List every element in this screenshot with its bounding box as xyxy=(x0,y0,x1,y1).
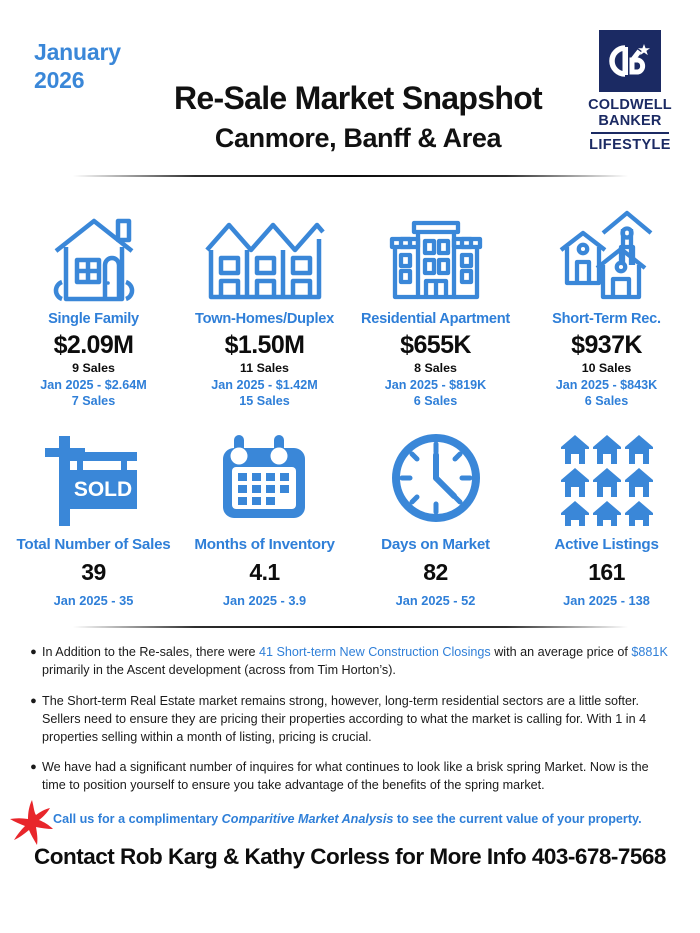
property-sales: 8 Sales xyxy=(350,361,521,375)
note-plain: In Addition to the Re-sales, there were xyxy=(42,645,259,659)
report-month: January xyxy=(34,38,121,66)
stat-card-months-inventory: Months of Inventory 4.1 Jan 2025 - 3.9 xyxy=(179,422,350,608)
calendar-icon xyxy=(179,422,350,526)
note-text: We have had a significant number of inqu… xyxy=(42,759,675,795)
house-grid-icon xyxy=(521,422,692,526)
stat-prior: Jan 2025 - 35 xyxy=(8,593,179,608)
cta-italic: Comparitive Market Analysis xyxy=(222,812,394,826)
stat-card-active-listings: Active Listings 161 Jan 2025 - 138 xyxy=(521,422,692,608)
cta-row: Call us for a complimentary Comparitive … xyxy=(25,808,675,838)
property-card-townhomes: Town-Homes/Duplex $1.50M 11 Sales Jan 20… xyxy=(179,195,350,408)
stat-prior: Jan 2025 - 138 xyxy=(521,593,692,608)
stat-value: 39 xyxy=(8,559,179,586)
page-header: January 2026 Re-Sale Market Snapshot Can… xyxy=(0,0,700,175)
contact-footer: Contact Rob Karg & Kathy Corless for Mor… xyxy=(0,844,700,870)
property-sales: 11 Sales xyxy=(179,361,350,375)
stat-label: Months of Inventory xyxy=(179,536,350,553)
property-price: $1.50M xyxy=(179,331,350,360)
stat-prior: Jan 2025 - 52 xyxy=(350,593,521,608)
logo-name-line1: COLDWELL xyxy=(578,98,682,114)
bullet-icon: ● xyxy=(25,644,42,680)
property-prior-sales: 15 Sales xyxy=(179,394,350,408)
property-card-short-term-rec: Short-Term Rec. $937K 10 Sales Jan 2025 … xyxy=(521,195,692,408)
property-prior-sales: 6 Sales xyxy=(521,394,692,408)
stat-value: 161 xyxy=(521,559,692,586)
note-item: ● In Addition to the Re-sales, there wer… xyxy=(25,644,675,680)
property-label: Town-Homes/Duplex xyxy=(179,311,350,327)
property-type-grid: Single Family $2.09M 9 Sales Jan 2025 - … xyxy=(0,195,700,408)
stat-card-total-sales: SOLD Total Number of Sales 39 Jan 2025 -… xyxy=(8,422,179,608)
property-label: Single Family xyxy=(8,311,179,327)
property-prior-sales: 6 Sales xyxy=(350,394,521,408)
market-snapshot-page: January 2026 Re-Sale Market Snapshot Can… xyxy=(0,0,700,933)
logo-divider xyxy=(591,132,669,134)
stat-label: Active Listings xyxy=(521,536,692,553)
note-text: In Addition to the Re-sales, there were … xyxy=(42,644,675,680)
cb-monogram-icon xyxy=(599,30,661,92)
single-family-house-icon xyxy=(8,195,179,303)
stat-value: 82 xyxy=(350,559,521,586)
cta-after: to see the current value of your propert… xyxy=(393,812,641,826)
sold-sign-icon: SOLD xyxy=(8,422,179,526)
cta-before: Call us for a complimentary xyxy=(53,812,222,826)
bullet-icon: ● xyxy=(25,759,42,795)
clock-icon xyxy=(350,422,521,526)
stat-label: Days on Market xyxy=(350,536,521,553)
property-card-single-family: Single Family $2.09M 9 Sales Jan 2025 - … xyxy=(8,195,179,408)
logo-name: COLDWELL BANKER xyxy=(578,98,682,129)
property-label: Residential Apartment xyxy=(350,311,521,327)
stat-label: Total Number of Sales xyxy=(8,536,179,553)
apartment-building-icon xyxy=(350,195,521,303)
divider-bottom xyxy=(73,626,628,628)
property-prior-price: Jan 2025 - $1.42M xyxy=(179,378,350,392)
divider-top xyxy=(73,175,628,177)
note-highlight: $881K xyxy=(631,645,667,659)
property-card-apartment: Residential Apartment $655K 8 Sales Jan … xyxy=(350,195,521,408)
sold-label: SOLD xyxy=(73,478,131,501)
market-notes: ● In Addition to the Re-sales, there wer… xyxy=(25,644,675,795)
stat-prior: Jan 2025 - 3.9 xyxy=(179,593,350,608)
property-sales: 10 Sales xyxy=(521,361,692,375)
property-prior-price: Jan 2025 - $819K xyxy=(350,378,521,392)
logo-sublabel: LIFESTYLE xyxy=(578,137,682,153)
note-plain: The Short-term Real Estate market remain… xyxy=(42,694,646,744)
property-sales: 9 Sales xyxy=(8,361,179,375)
property-price: $937K xyxy=(521,331,692,360)
note-item: ● The Short-term Real Estate market rema… xyxy=(25,693,675,747)
market-stats-grid: SOLD Total Number of Sales 39 Jan 2025 -… xyxy=(0,422,700,608)
note-highlight: 41 Short-term New Construction Closings xyxy=(259,645,491,659)
note-plain: primarily in the Ascent development (acr… xyxy=(42,663,396,677)
logo-name-line2: BANKER xyxy=(578,114,682,130)
stat-card-days-on-market: Days on Market 82 Jan 2025 - 52 xyxy=(350,422,521,608)
short-term-rec-cabins-icon xyxy=(521,195,692,303)
property-prior-sales: 7 Sales xyxy=(8,394,179,408)
property-prior-price: Jan 2025 - $2.64M xyxy=(8,378,179,392)
cta-text: Call us for a complimentary Comparitive … xyxy=(53,812,642,826)
coldwell-banker-logo: COLDWELL BANKER LIFESTYLE xyxy=(578,30,682,153)
bullet-icon: ● xyxy=(25,693,42,747)
property-prior-price: Jan 2025 - $843K xyxy=(521,378,692,392)
stat-value: 4.1 xyxy=(179,559,350,586)
note-item: ● We have had a significant number of in… xyxy=(25,759,675,795)
property-price: $655K xyxy=(350,331,521,360)
note-text: The Short-term Real Estate market remain… xyxy=(42,693,675,747)
note-plain: with an average price of xyxy=(491,645,632,659)
townhomes-duplex-icon xyxy=(179,195,350,303)
note-plain: We have had a significant number of inqu… xyxy=(42,760,649,792)
property-price: $2.09M xyxy=(8,331,179,360)
property-label: Short-Term Rec. xyxy=(521,311,692,327)
